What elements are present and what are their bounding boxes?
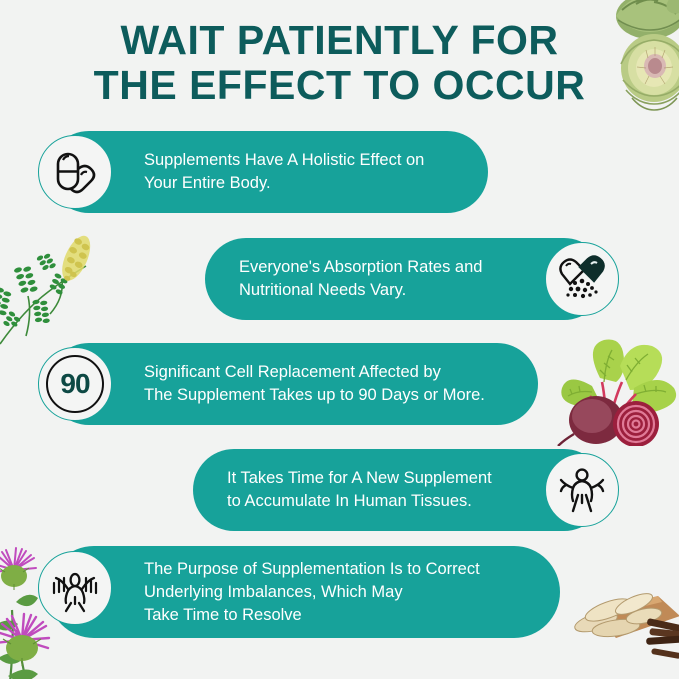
beetroot-illustration [548, 336, 679, 446]
standing-person-arms-out-icon [545, 453, 619, 527]
row-accumulate-tissues[interactable]: It Takes Time for A New Supplement to Ac… [193, 449, 605, 531]
ninety-number: 90 [60, 370, 89, 398]
capsules-icon [38, 135, 112, 209]
row-correct-imbalances[interactable]: The Purpose of Supplementation Is to Cor… [48, 546, 560, 638]
open-capsule-granules-icon [545, 242, 619, 316]
row-holistic-effect[interactable]: Supplements Have A Holistic Effect on Yo… [48, 131, 488, 213]
row-absorption-rates-text: Everyone's Absorption Rates and Nutritio… [239, 256, 482, 302]
ninety-badge-icon: 90 [38, 347, 112, 421]
row-holistic-effect-text: Supplements Have A Holistic Effect on Yo… [144, 149, 424, 195]
ninety-ring: 90 [46, 355, 104, 413]
row-accumulate-tissues-text: It Takes Time for A New Supplement to Ac… [227, 467, 492, 513]
page-title: WAIT PATIENTLY FOR THE EFFECT TO OCCUR [0, 18, 679, 108]
row-correct-imbalances-text: The Purpose of Supplementation Is to Cor… [144, 558, 480, 627]
row-cell-replacement-text: Significant Cell Replacement Affected by… [144, 361, 485, 407]
row-cell-replacement[interactable]: Significant Cell Replacement Affected by… [48, 343, 538, 425]
dried-root-slices-illustration [556, 556, 679, 676]
person-arms-raised-energy-icon [38, 551, 112, 625]
infographic-canvas: WAIT PATIENTLY FOR THE EFFECT TO OCCUR S… [0, 0, 679, 679]
astragalus-sprig-illustration [0, 218, 108, 348]
